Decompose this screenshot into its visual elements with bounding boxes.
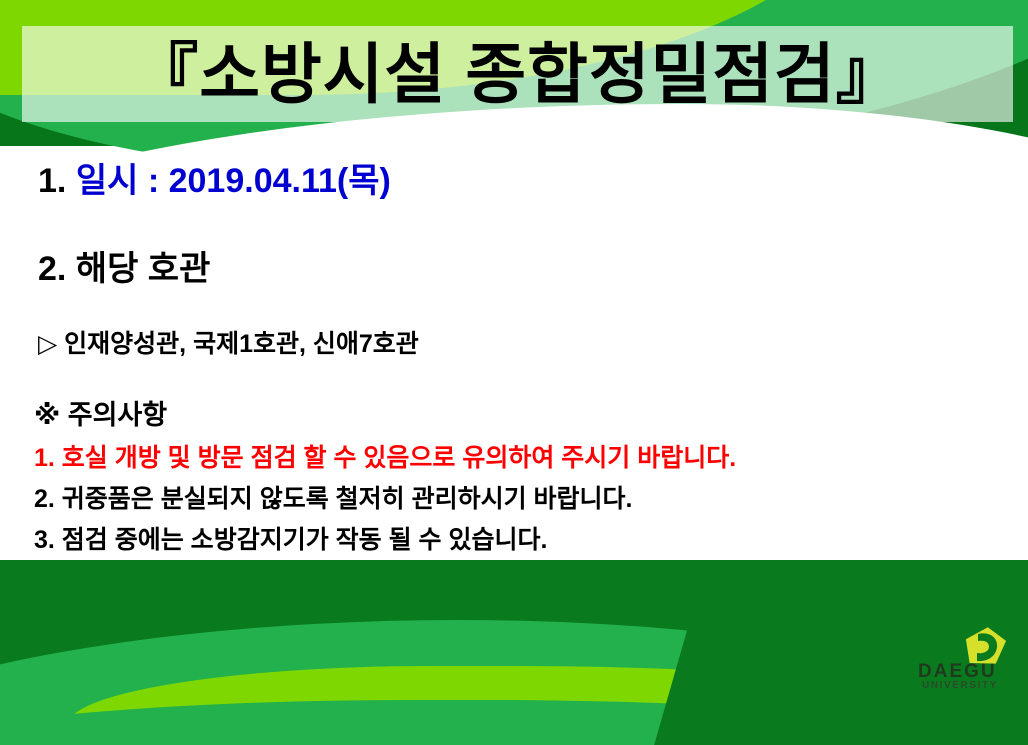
- schedule-label: 일시 :: [76, 162, 159, 200]
- buildings-heading: 2. 해당 호관: [38, 252, 210, 286]
- note-item-1: 1. 호실 개방 및 방문 점검 할 수 있음으로 유의하여 주시기 바랍니다.: [34, 446, 736, 471]
- extra-notice-label: 유의사항:: [38, 610, 154, 642]
- slide-body: 1. 일시 : 2019.04.11(목) 2. 해당 호관 ▷ 인재양성관, …: [0, 146, 1028, 616]
- note-item-4: 4. 다소 불편하시더라도 많은 협조 부탁 드립니다.: [34, 569, 540, 594]
- schedule-date-value: 2019.04.11(목): [169, 162, 391, 200]
- footer-mid-green-curve-2: [0, 700, 1028, 745]
- presentation-slide: 『소방시설 종합정밀점검』 1. 일시 : 2019.04.11(목) 2. 해…: [0, 0, 1028, 745]
- buildings-list: ▷ 인재양성관, 국제1호관, 신애7호관: [38, 332, 419, 357]
- extra-notice-line-2: 1시간정도 연장 될 수 있습니다.: [182, 654, 559, 683]
- logo-university-name: DAEGU: [918, 662, 1022, 681]
- note-item-2: 2. 귀중품은 분실되지 않도록 철저히 관리하시기 바랍니다.: [34, 487, 632, 512]
- extra-notice-text-1: 점검시간은 13시부터 17시이며 상황에 따라: [162, 610, 686, 642]
- schedule-number: 1.: [38, 162, 66, 200]
- notes-heading: ※ 주의사항: [34, 402, 167, 429]
- slide-title: 『소방시설 종합정밀점검』: [22, 26, 1013, 122]
- logo-university-subtitle: UNIVERSITY: [922, 681, 1026, 691]
- university-logo: DAEGU UNIVERSITY: [918, 626, 1022, 698]
- extra-notice-line-1: 유의사항: 점검시간은 13시부터 17시이며 상황에 따라: [38, 612, 686, 641]
- note-item-3: 3. 점검 중에는 소방감지기가 작동 될 수 있습니다.: [34, 528, 547, 553]
- schedule-line: 1. 일시 : 2019.04.11(목): [38, 164, 391, 198]
